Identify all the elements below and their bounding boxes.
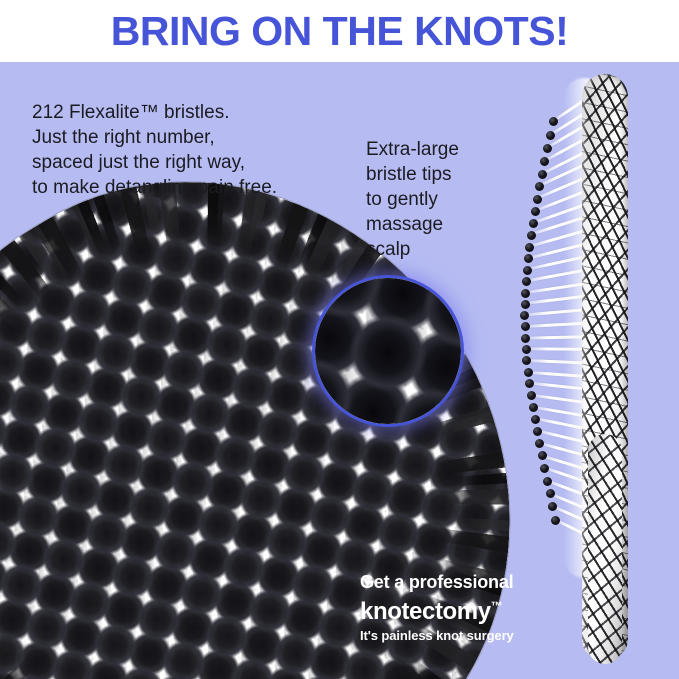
bristle-tip-ball (533, 427, 542, 436)
bristle-tip-ball (535, 182, 544, 191)
trademark-symbol: ™ (491, 599, 503, 613)
bristle-tip-ball (525, 379, 534, 388)
bristle-tip-ball (520, 311, 529, 320)
bristle-tip-ball (531, 415, 540, 424)
bristle-tip-ball (521, 289, 530, 298)
brush-handle-taper (588, 434, 622, 664)
bristle-tip-ball (522, 356, 531, 365)
bristle-tip-ball (522, 345, 531, 354)
bristle-tip-ball (525, 243, 534, 252)
bristle-tip-ball (524, 368, 533, 377)
promo-headline: Get a professional (360, 572, 514, 593)
bristle-tip-ball (543, 477, 552, 486)
bristle-tip-ball (546, 131, 555, 140)
bristle-tip-ball (527, 391, 536, 400)
brush-side-view-image (508, 74, 668, 664)
promo-brandname: knotectomy™ (360, 593, 514, 625)
promo-tagline: It's painless knot surgery (360, 627, 514, 644)
bristle-tip-ball (548, 502, 557, 511)
bristle-tip-ball (531, 207, 540, 216)
bristle-count-copy: 212 Flexalite™ bristles. Just the right … (32, 100, 277, 200)
promo-brandname-text: knotectomy (360, 598, 491, 625)
promo-block: Get a professional knotectomy™ It's pain… (360, 572, 514, 644)
bristle-tip-ball (527, 231, 536, 240)
magnifier-closeup-circle (312, 275, 464, 427)
magnifier-content (312, 275, 464, 427)
bristle-tip-ball (543, 144, 552, 153)
bristle-tip-ball (535, 439, 544, 448)
product-infographic: BRING ON THE KNOTS! 212 Flexalite™ brist… (0, 0, 679, 679)
bristle-tip-ball (522, 277, 531, 286)
bristle-tip-ball (521, 322, 530, 331)
bristle-tip-ball (524, 254, 533, 263)
bristle-tip-ball (523, 266, 532, 275)
massage-scalp-copy: Extra-large bristle tips to gently massa… (366, 137, 459, 262)
bristle-tip-ball (529, 219, 538, 228)
bristle-tip-ball (540, 464, 549, 473)
bristle-tip-ball (521, 334, 530, 343)
page-title: BRING ON THE KNOTS! (0, 11, 679, 52)
bristle-tip-ball (546, 489, 555, 498)
bristle-tip-ball (529, 403, 538, 412)
bristle-tip-ball (538, 170, 547, 179)
magnified-bristle-tips-offset (312, 275, 464, 427)
bristle-tip-ball (549, 117, 558, 126)
bristle-tip-ball (533, 195, 542, 204)
bristle-tip-ball (551, 516, 560, 525)
bristle-tip-ball (521, 300, 530, 309)
bristle-tip-ball (540, 157, 549, 166)
bristle-tip-ball (538, 451, 547, 460)
